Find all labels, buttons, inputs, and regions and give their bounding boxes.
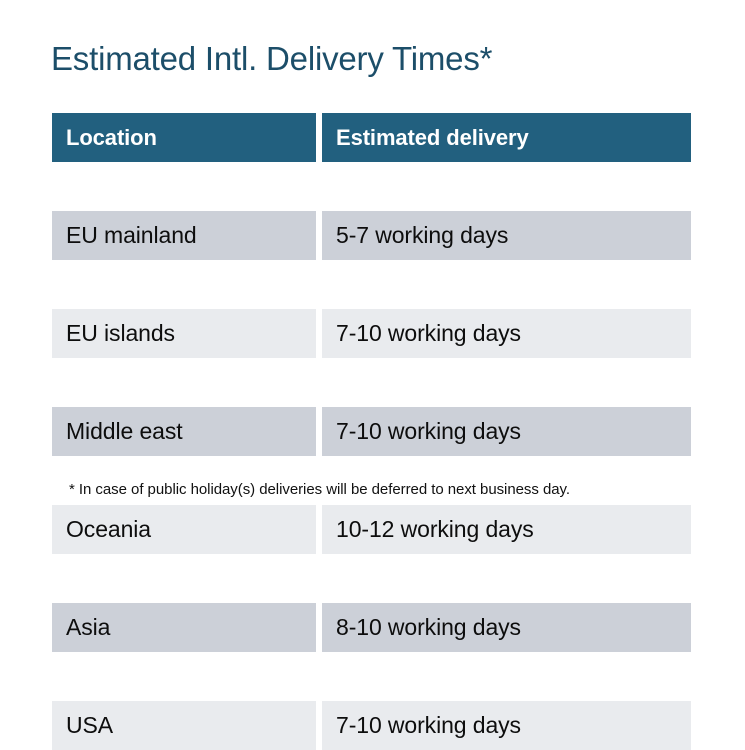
row-separator-cell [52, 260, 316, 309]
delivery-times-table: Location Estimated delivery EU mainland … [52, 113, 691, 750]
table-row: USA 7-10 working days [52, 701, 691, 750]
table-body: EU mainland 5-7 working days EU islands … [52, 162, 691, 750]
row-separator-cell [322, 358, 691, 407]
row-separator [52, 162, 691, 211]
cell-estimated-delivery: 8-10 working days [322, 603, 691, 652]
cell-estimated-delivery: 7-10 working days [322, 407, 691, 456]
row-separator [52, 358, 691, 407]
table-row: Oceania 10-12 working days [52, 505, 691, 554]
cell-estimated-delivery: 5-7 working days [322, 211, 691, 260]
cell-location: Asia [52, 603, 316, 652]
row-separator-cell [52, 554, 316, 603]
footnote: * In case of public holiday(s) deliverie… [69, 481, 570, 498]
row-separator-cell [322, 162, 691, 211]
column-header-location: Location [52, 113, 316, 162]
cell-location: EU islands [52, 309, 316, 358]
cell-location: Middle east [52, 407, 316, 456]
table-row: EU islands 7-10 working days [52, 309, 691, 358]
table-header-row: Location Estimated delivery [52, 113, 691, 162]
table-row: Middle east 7-10 working days [52, 407, 691, 456]
delivery-times-panel: Estimated Intl. Delivery Times* Location… [0, 0, 745, 536]
table-row: EU mainland 5-7 working days [52, 211, 691, 260]
table-row: Asia 8-10 working days [52, 603, 691, 652]
cell-estimated-delivery: 7-10 working days [322, 701, 691, 750]
row-separator-cell [52, 358, 316, 407]
cell-location: Oceania [52, 505, 316, 554]
page-title: Estimated Intl. Delivery Times* [51, 38, 492, 80]
cell-location: EU mainland [52, 211, 316, 260]
row-separator-cell [52, 652, 316, 701]
row-separator-cell [322, 554, 691, 603]
row-separator-cell [52, 162, 316, 211]
table-header: Location Estimated delivery [52, 113, 691, 162]
cell-estimated-delivery: 7-10 working days [322, 309, 691, 358]
row-separator-cell [322, 260, 691, 309]
cell-location: USA [52, 701, 316, 750]
row-separator [52, 652, 691, 701]
row-separator [52, 260, 691, 309]
row-separator-cell [322, 652, 691, 701]
row-separator [52, 554, 691, 603]
column-header-estimated-delivery: Estimated delivery [322, 113, 691, 162]
cell-estimated-delivery: 10-12 working days [322, 505, 691, 554]
